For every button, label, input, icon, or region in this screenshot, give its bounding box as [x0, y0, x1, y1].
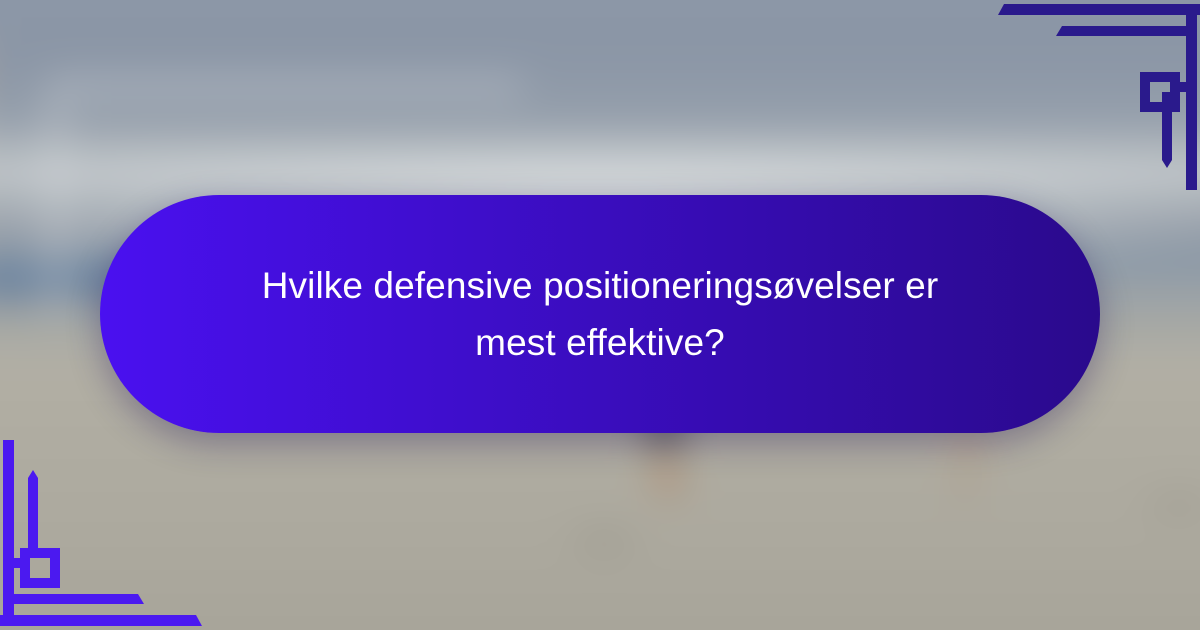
question-banner: Hvilke defensive positioneringsøvelser e…: [100, 195, 1100, 433]
poster-canvas: Hvilke defensive positioneringsøvelser e…: [0, 0, 1200, 630]
player-shadow-right: [1116, 488, 1200, 520]
player-shadow-left: [546, 526, 663, 554]
question-text: Hvilke defensive positioneringsøvelser e…: [220, 257, 980, 372]
